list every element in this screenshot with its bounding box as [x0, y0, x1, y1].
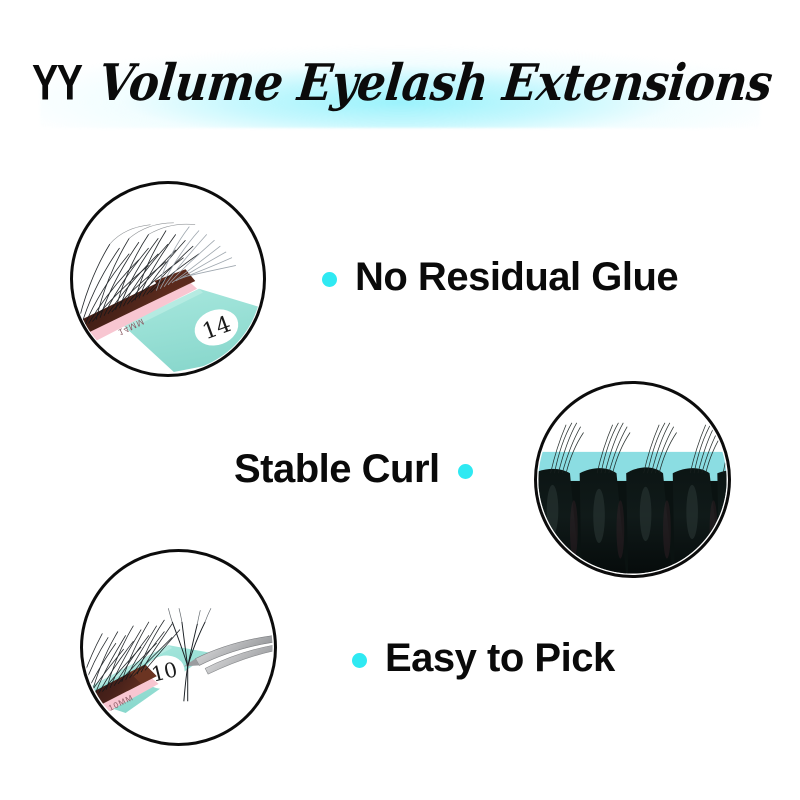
- bullet-dot-icon: [458, 464, 473, 479]
- feature-label-text: Easy to Pick: [385, 636, 615, 680]
- feature-label-stable-curl: Stable Curl: [232, 449, 442, 493]
- feature-label-text: Stable Curl: [234, 447, 440, 491]
- photo-lash-tray-10mm-tweezers: 10 10MM: [80, 549, 277, 746]
- feature-label-easy-to-pick: Easy to Pick: [383, 638, 617, 682]
- lash-tray-10mm-tweezers-illustration: 10 10MM: [83, 552, 274, 743]
- bullet-dot-icon: [352, 653, 367, 668]
- lash-fans-macro-illustration: [537, 384, 728, 575]
- feature-label-no-residual-glue: No Residual Glue: [353, 257, 680, 301]
- bullet-dot-icon: [322, 272, 337, 287]
- page-title: Volume Eyelash Extensions: [97, 57, 775, 107]
- brand-logo-text: YY: [32, 57, 81, 107]
- feature-stable-curl: Stable Curl: [232, 449, 473, 493]
- header-banner: YY Volume Eyelash Extensions: [0, 36, 800, 128]
- feature-no-residual-glue: No Residual Glue: [322, 257, 680, 301]
- feature-label-text: No Residual Glue: [355, 255, 678, 299]
- photo-lash-tray-14mm: 14 14MM: [70, 181, 266, 377]
- feature-easy-to-pick: Easy to Pick: [352, 638, 617, 682]
- header-title-row: YY Volume Eyelash Extensions: [0, 36, 800, 128]
- photo-lash-fans-macro: [534, 381, 731, 578]
- lash-tray-14mm-illustration: 14 14MM: [73, 184, 263, 374]
